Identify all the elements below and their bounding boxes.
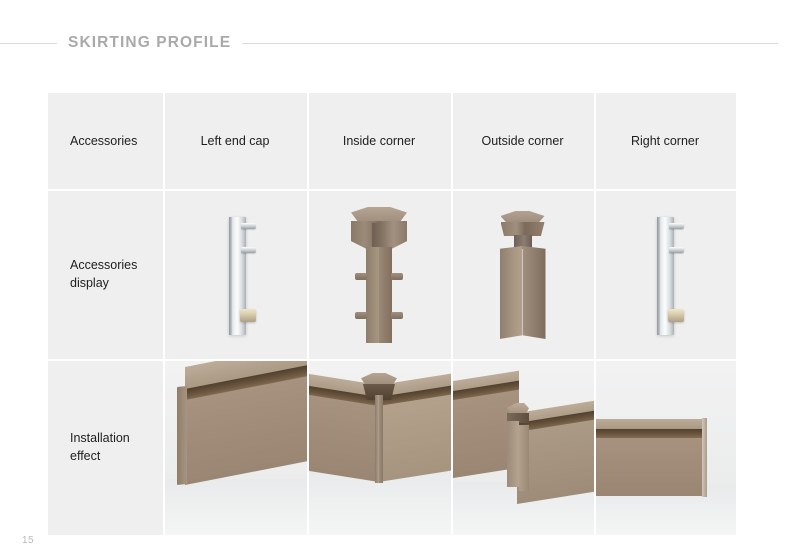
slide-title-bar: SKIRTING PROFILE [0, 32, 800, 54]
row-label-accessories-display: Accessories display [48, 189, 163, 359]
inside-corner-fin-left-upper [355, 273, 367, 280]
endcap-tab-upper [241, 223, 256, 229]
outside-corner-cap-body [501, 222, 545, 236]
title-rule-right [242, 43, 778, 44]
inside-corner-stem-left [366, 247, 379, 343]
header-label: Accessories [70, 134, 137, 148]
install-photo-inside-corner [307, 359, 451, 535]
header-label: Left end cap [201, 134, 270, 148]
inside-corner-cap-top [351, 207, 407, 223]
endcap-plate-edge [229, 217, 232, 335]
left-end-cap-product [163, 189, 307, 359]
table-header-accessories: Accessories [48, 93, 163, 189]
outside-corner-install [451, 359, 594, 535]
row-label-line2: display [70, 274, 137, 292]
outside-corner-icon [492, 211, 554, 339]
inside-corner-fin-right-upper [391, 273, 403, 280]
header-label: Inside corner [343, 134, 415, 148]
right-corner-install [594, 359, 736, 535]
header-label: Right corner [631, 134, 699, 148]
outside-corner-body-left [500, 246, 523, 339]
skirting-face [594, 438, 704, 496]
endcap-tab-upper [669, 223, 684, 229]
row-label-installation-effect: Installation effect [48, 359, 163, 535]
outside-corner-product [451, 189, 594, 359]
inside-corner-product [307, 189, 451, 359]
install-photo-right-corner [594, 359, 736, 535]
table-header-outside-corner: Outside corner [451, 93, 594, 189]
header-label: Outside corner [482, 134, 564, 148]
outside-corner-body-right [523, 246, 546, 339]
endcap-plate-edge [657, 217, 660, 335]
outside-corner-edge-left [507, 421, 519, 487]
table-header-right-corner: Right corner [594, 93, 736, 189]
left-end-cap-render [163, 189, 307, 359]
page-number: 15 [22, 535, 34, 546]
skirting-face-left [307, 394, 379, 482]
inside-corner-fin-right-lower [391, 312, 403, 319]
page-title: SKIRTING PROFILE [57, 33, 242, 53]
inside-corner-seam-right [379, 395, 383, 483]
right-corner-render [594, 189, 736, 359]
endcap-bracket-icon [229, 217, 255, 335]
endcap-clip [668, 309, 684, 322]
accessories-table: Accessories Left end cap Inside corner O… [48, 93, 736, 535]
floor-surface [163, 479, 307, 535]
row-label-line2: effect [70, 447, 130, 465]
install-photo-left-end-cap [163, 359, 307, 535]
outside-corner-edge-right [519, 425, 529, 491]
title-rule-left [0, 43, 57, 44]
skirting-face-right [379, 393, 451, 482]
slide-page: SKIRTING PROFILE Accessories Left end ca… [0, 0, 800, 557]
left-end-cap-face [177, 386, 187, 485]
inside-corner-render [307, 189, 451, 359]
outside-corner-render [451, 189, 594, 359]
row-label-line1: Installation [70, 429, 130, 447]
inside-corner-install [307, 359, 451, 535]
right-corner-product [594, 189, 736, 359]
right-corner-cap-face [702, 418, 707, 497]
row-label-line1: Accessories [70, 256, 137, 274]
endcap-tab-lower [241, 247, 256, 253]
right-corner-bracket-icon [657, 217, 683, 335]
inside-corner-icon [342, 207, 416, 343]
endcap-tab-lower [669, 247, 684, 253]
inside-corner-stem-right [379, 247, 392, 343]
inside-corner-cap-notch [372, 223, 386, 249]
endcap-clip [240, 309, 256, 322]
left-end-cap-install [163, 359, 307, 535]
install-photo-outside-corner [451, 359, 594, 535]
inside-corner-fin-left-lower [355, 312, 367, 319]
table-header-left-end-cap: Left end cap [163, 93, 307, 189]
table-header-inside-corner: Inside corner [307, 93, 451, 189]
